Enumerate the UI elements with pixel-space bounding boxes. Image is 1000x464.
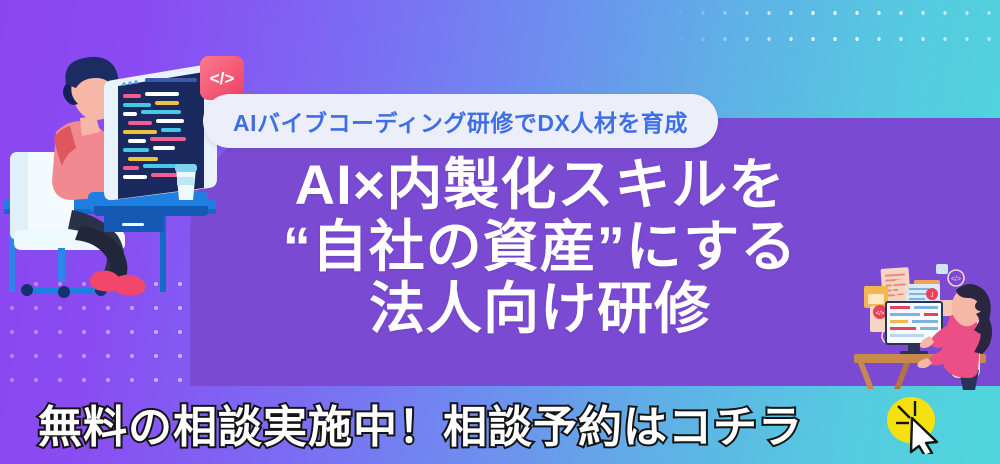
badge-pill: AIバイブコーディング研修でDX人材を育成: [203, 94, 718, 148]
dot-pattern-top-right: [670, 0, 1000, 62]
headline-line-3: 法人向け研修: [210, 278, 870, 340]
cta-label[interactable]: 無料の相談実施中！相談予約はコチラ: [38, 391, 803, 455]
svg-text:J: J: [931, 293, 934, 299]
headline-line-1: AI×内製化スキルを: [210, 154, 870, 216]
cursor-click-icon[interactable]: [884, 392, 946, 454]
headline-line-2: “自社の資産”にする: [210, 216, 870, 278]
svg-text:</>: </>: [951, 276, 961, 283]
cta-bar[interactable]: 無料の相談実施中！相談予約はコチラ: [0, 382, 1000, 464]
hero-banner: </>: [0, 0, 1000, 464]
page-title: AI×内製化スキルを “自社の資産”にする 法人向け研修: [210, 154, 870, 340]
svg-text:</>: </>: [210, 69, 235, 88]
badge-label: AIバイブコーディング研修でDX人材を育成: [233, 104, 688, 138]
svg-text:</>: </>: [876, 311, 885, 317]
